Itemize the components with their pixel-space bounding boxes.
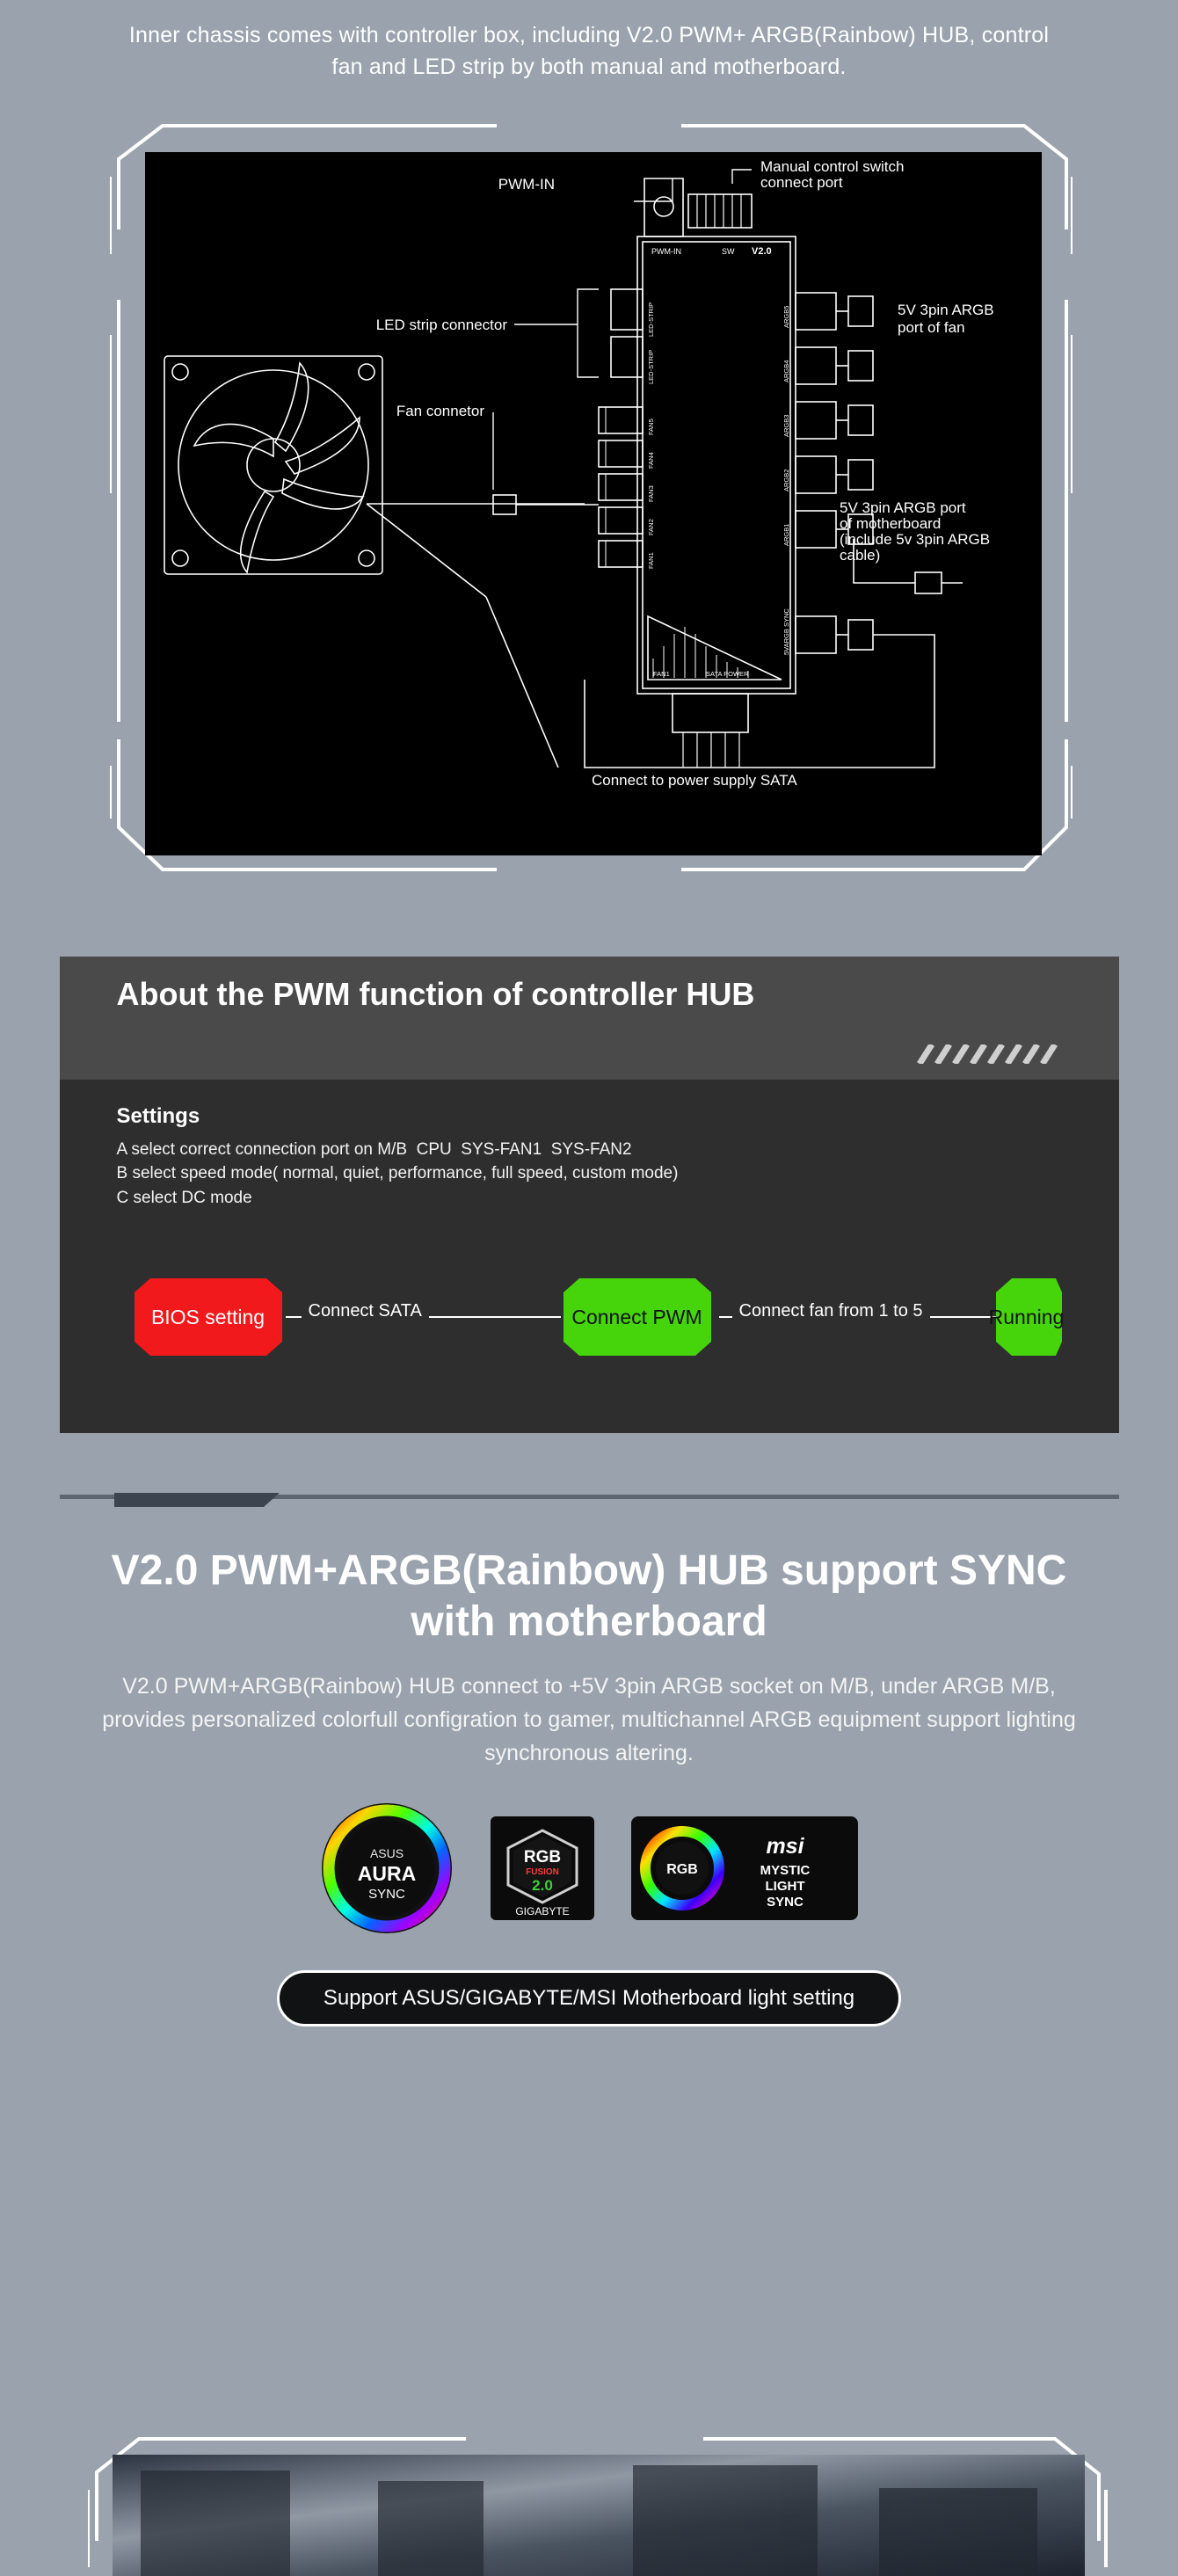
hatch-decoration [913,1044,1062,1064]
msi-mystic-light-sync-logo: RGB msi MYSTIC LIGHT SYNC [631,1816,858,1920]
flow-label-connect-pwm: Connect PWM [564,1266,711,1368]
intro-paragraph: Inner chassis comes with controller box,… [123,0,1055,84]
board-label-sata-power: SATA POWER [706,670,749,678]
label-argb-fan-port-1: 5V 3pin ARGB [898,302,994,318]
label-argb-mb-1: 5V 3pin ARGB port [840,499,966,516]
label-manual-switch-2: connect port [760,174,843,191]
gb-brand: GIGABYTE [515,1905,569,1917]
msi-line3: SYNC [767,1895,804,1910]
board-port-led-strip-2: LED-STRIP [647,349,655,383]
board-port-fan3: FAN3 [647,485,655,502]
gb-line1: RGB [524,1848,561,1867]
board-label-version: V2.0 [752,246,772,257]
controller-hub-diagram: PWM-IN SW V2.0 LED-STRIP LED-STRIP FAN5 … [57,117,1121,891]
pwm-card-header: About the PWM function of controller HUB [60,957,1119,1080]
diagram-canvas: PWM-IN SW V2.0 LED-STRIP LED-STRIP FAN5 … [145,152,1042,855]
settings-heading: Settings [117,1104,1062,1129]
sync-section-body: V2.0 PWM+ARGB(Rainbow) HUB connect to +5… [97,1670,1081,1770]
label-led-strip-connector: LED strip connector [376,317,508,333]
label-argb-mb-2: of motherboard [840,515,941,532]
aura-line2: SYNC [368,1887,405,1902]
asus-aura-sync-logo: ASUS AURA SYNC [320,1801,454,1935]
board-port-argb2: ARGB2 [782,469,790,491]
board-port-argb3: ARGB3 [782,414,790,436]
pwm-flow-diagram: BIOS setting Connect PWM Running Connect… [117,1266,1062,1380]
board-port-argb4: ARGB4 [782,360,790,382]
settings-line-b: B select speed mode( normal, quiet, perf… [117,1161,1062,1186]
sync-section-title: V2.0 PWM+ARGB(Rainbow) HUB support SYNC … [79,1546,1099,1647]
gigabyte-rgb-fusion-logo: RGB FUSION 2.0 GIGABYTE [491,1816,594,1920]
msi-brand: msi [766,1834,804,1859]
label-manual-switch-1: Manual control switch [760,158,904,175]
aura-brand: ASUS [370,1846,404,1860]
support-pill-label: Support ASUS/GIGABYTE/MSI Motherboard li… [324,1986,854,2011]
board-port-fan2: FAN2 [647,519,655,535]
support-pill: Support ASUS/GIGABYTE/MSI Motherboard li… [277,1970,901,2027]
label-pwm-in: PWM-IN [498,176,555,193]
board-label-pwm-in: PWM-IN [651,247,681,256]
board-port-5v-argb-sync: 5VARGB SYNC [782,608,790,654]
label-argb-mb-3: (include 5v 3pin ARGB [840,531,990,548]
next-section-teaser [88,2435,1108,2576]
flow-label-running: Running [978,1266,1075,1368]
board-label-sw: SW [722,247,735,256]
label-sata: Connect to power supply SATA [592,772,797,789]
gb-line3: 2.0 [532,1877,553,1894]
pwm-info-card: About the PWM function of controller HUB… [60,957,1119,1434]
settings-line-a: A select correct connection port on M/B … [117,1138,1062,1162]
settings-line-c: C select DC mode [117,1186,1062,1211]
flow-label-bios-setting: BIOS setting [135,1266,282,1368]
board-port-fan1: FAN1 [647,552,655,569]
label-argb-mb-4: cable) [840,547,880,564]
msi-line2: LIGHT [766,1879,805,1894]
board-port-argb1: ARGB1 [782,523,790,545]
label-fan-connector: Fan connetor [396,403,485,419]
board-port-fan5: FAN5 [647,418,655,435]
board-label-fan1-bottom: FAN1 [653,670,670,678]
flow-connector-label-fan: Connect fan from 1 to 5 [732,1301,930,1321]
label-argb-fan-port-2: port of fan [898,319,965,336]
pwm-card-title: About the PWM function of controller HUB [117,976,1062,1012]
brand-logo-row: ASUS AURA SYNC RGB FUSION 2.0 GIGABYTE [237,1801,941,1935]
flow-connector-label-sata: Connect SATA [302,1301,429,1321]
gb-line2: FUSION [526,1867,559,1877]
msi-line1: MYSTIC [760,1863,811,1878]
section-divider [60,1493,1119,1507]
board-port-led-strip-1: LED-STRIP [647,302,655,336]
board-port-argb5: ARGB5 [782,305,790,327]
board-port-fan4: FAN4 [647,452,655,469]
aura-line1: AURA [358,1862,416,1885]
msi-badge: RGB [666,1862,698,1877]
pwm-card-body: Settings A select correct connection por… [60,1080,1119,1434]
